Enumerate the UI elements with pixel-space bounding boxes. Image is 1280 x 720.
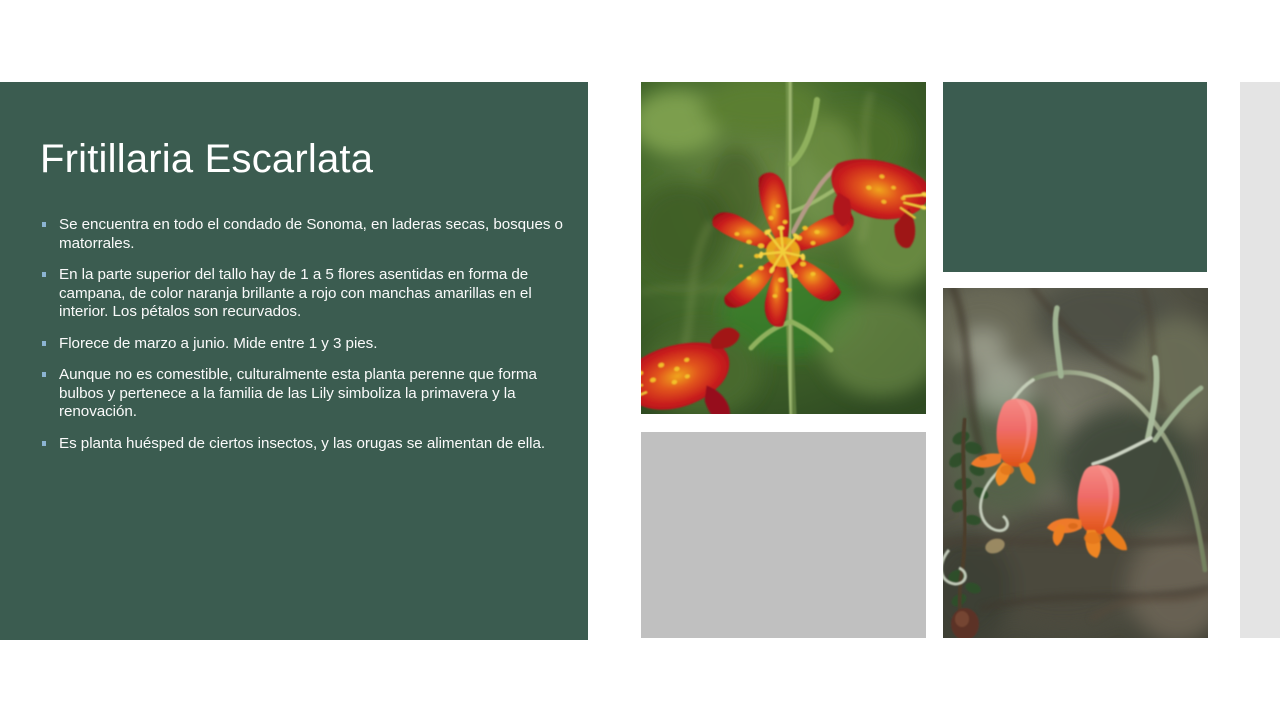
list-item: En la parte superior del tallo hay de 1 … bbox=[40, 266, 568, 322]
list-item: Se encuentra en todo el condado de Sonom… bbox=[40, 216, 568, 253]
list-item-text: Se encuentra en todo el condado de Sonom… bbox=[59, 216, 563, 252]
list-item-text: Es planta huésped de ciertos insectos, y… bbox=[59, 435, 545, 452]
list-item: Es planta huésped de ciertos insectos, y… bbox=[40, 435, 568, 454]
bullet-marker-icon bbox=[42, 372, 46, 377]
bullet-marker-icon bbox=[42, 341, 46, 346]
list-item: Florece de marzo a junio. Mide entre 1 y… bbox=[40, 335, 568, 354]
bullet-marker-icon bbox=[42, 272, 46, 277]
gray-image-placeholder bbox=[641, 432, 926, 638]
page-title: Fritillaria Escarlata bbox=[40, 137, 560, 181]
content-panel: Fritillaria Escarlata Se encuentra en to… bbox=[0, 82, 588, 640]
bullet-marker-icon bbox=[42, 441, 46, 446]
list-item-text: Florece de marzo a junio. Mide entre 1 y… bbox=[59, 335, 377, 352]
list-item: Aunque no es comestible, culturalmente e… bbox=[40, 366, 568, 422]
scarlet-fritillaria-open-flower-photo bbox=[641, 82, 926, 414]
list-item-text: Aunque no es comestible, culturalmente e… bbox=[59, 366, 537, 420]
list-item-text: En la parte superior del tallo hay de 1 … bbox=[59, 266, 532, 320]
bullet-list: Se encuentra en todo el condado de Sonom… bbox=[40, 216, 568, 453]
fritillaria-bell-flowers-photo bbox=[943, 288, 1208, 638]
gray-edge-strip bbox=[1240, 82, 1280, 638]
bullet-marker-icon bbox=[42, 222, 46, 227]
green-color-block bbox=[943, 82, 1207, 272]
